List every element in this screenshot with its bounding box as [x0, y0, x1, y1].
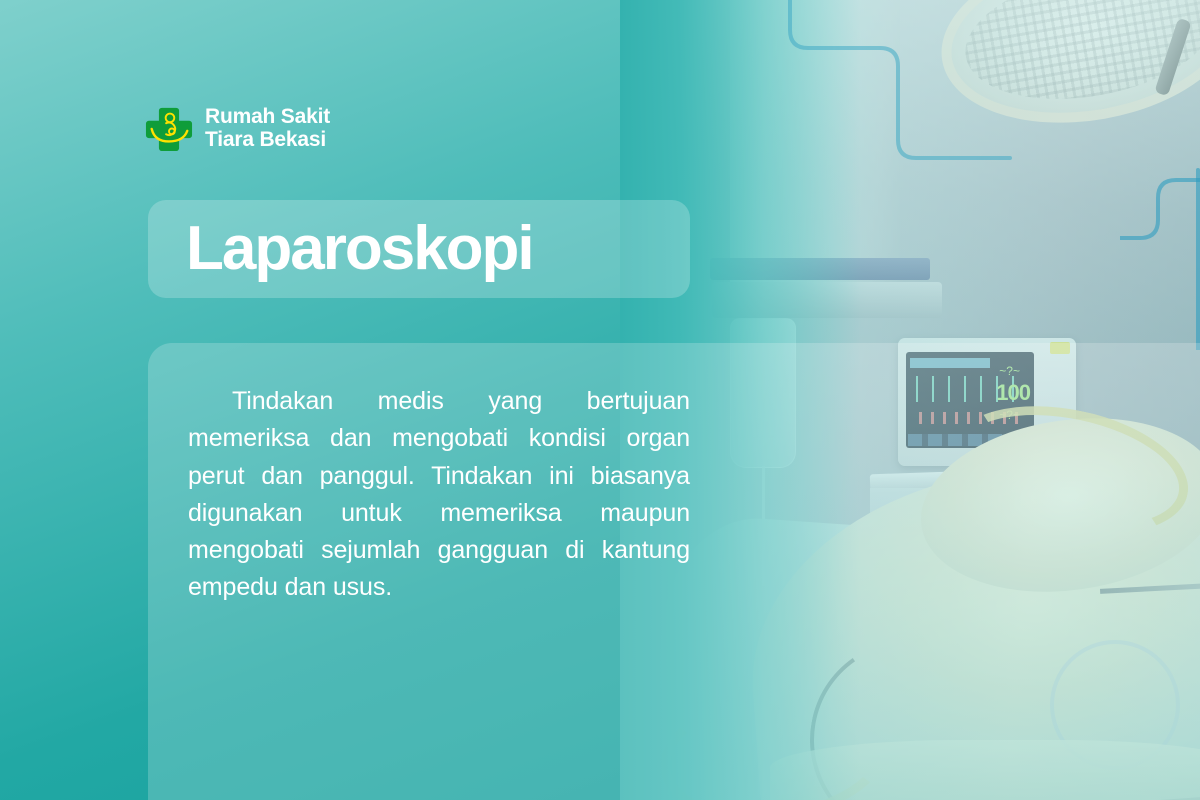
poster-canvas: ~?~ 100 ~?~ PHILIPS — [0, 0, 1200, 800]
brand-name-line1: Rumah Sakit — [205, 105, 330, 128]
brand-name-line2: Tiara Bekasi — [205, 128, 330, 151]
description-card: Tindakan medis yang bertujuan memeriksa … — [148, 343, 1200, 800]
description-text: Tindakan medis yang bertujuan memeriksa … — [188, 383, 690, 607]
title-card: Laparoskopi — [148, 200, 690, 298]
brand-name: Rumah Sakit Tiara Bekasi — [205, 105, 330, 151]
hospital-cross-mother-child-logo-icon — [145, 104, 193, 152]
brand-lockup: Rumah Sakit Tiara Bekasi — [145, 104, 330, 152]
page-title: Laparoskopi — [148, 218, 533, 280]
